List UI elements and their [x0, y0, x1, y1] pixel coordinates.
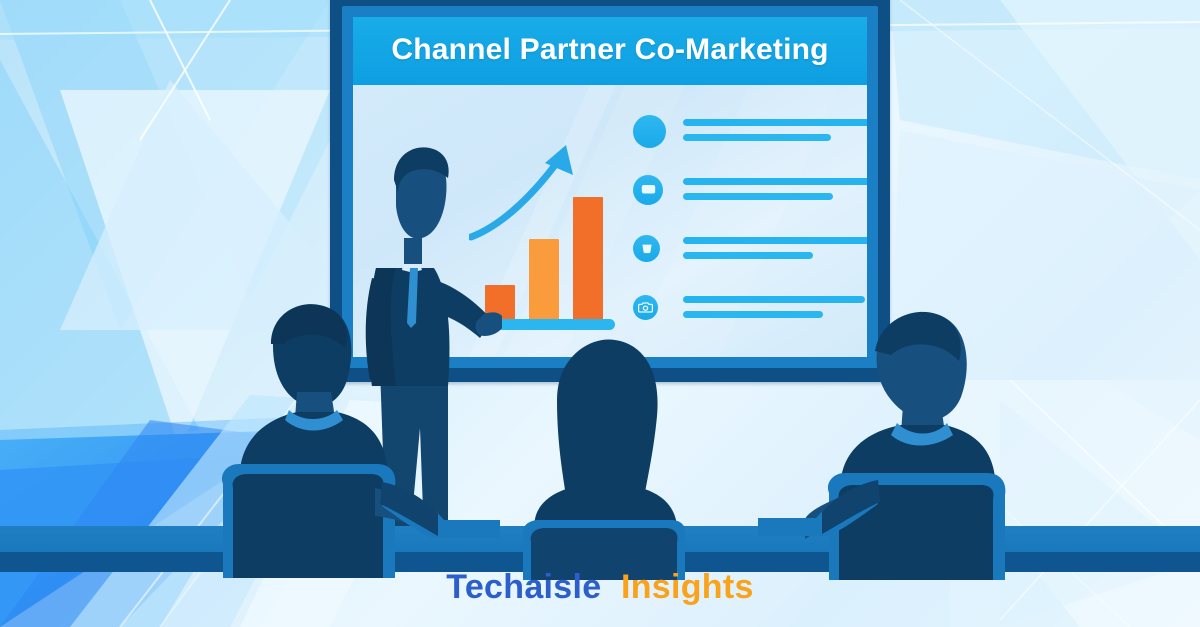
text-bar [683, 134, 831, 141]
text-bar [683, 311, 823, 318]
slide-title: Channel Partner Co-Marketing [353, 33, 867, 67]
text-bar [683, 237, 867, 244]
cup-icon [633, 235, 660, 262]
cup-glyph [640, 242, 654, 256]
brand-lockup: Techaisle Insights [0, 568, 1200, 607]
text-bar [683, 119, 867, 126]
banner-canvas: Channel Partner Co-Marketing [0, 0, 1200, 627]
audience-left-arm [380, 480, 510, 550]
audience-center-silhouette [495, 330, 715, 580]
camera-glyph [638, 301, 653, 314]
bar-2 [529, 239, 559, 321]
camera-icon [633, 295, 658, 320]
text-bar [683, 252, 813, 259]
brand-secondary: Insights [621, 568, 754, 606]
brand-primary: Techaisle [446, 568, 601, 606]
monitor-icon [633, 175, 663, 205]
bar-3 [573, 197, 603, 321]
audience-right-arm [740, 478, 880, 550]
monitor-glyph [641, 184, 656, 196]
text-bar [683, 178, 867, 185]
text-bar [683, 193, 833, 200]
circle-icon [633, 115, 666, 148]
